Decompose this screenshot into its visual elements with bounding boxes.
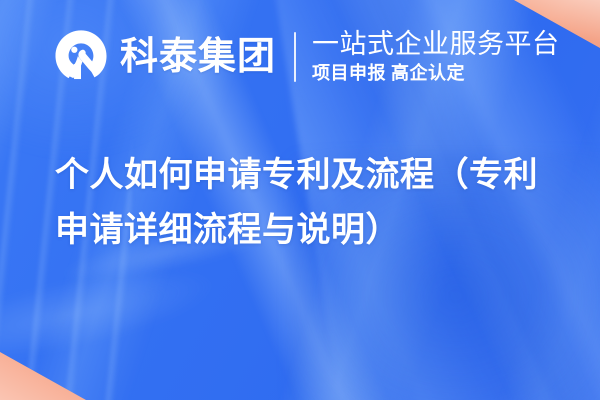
brand-lockup: 科泰集团 一站式企业服务平台 项目申报 高企认定 — [52, 28, 560, 86]
tagline-sub: 项目申报 高企认定 — [312, 62, 560, 85]
tagline-group: 一站式企业服务平台 项目申报 高企认定 — [312, 29, 560, 85]
brand-name: 科泰集团 — [120, 38, 276, 76]
tagline-main: 一站式企业服务平台 — [312, 29, 560, 59]
article-headline: 个人如何申请专利及流程（专利申请详细流程与说明） — [55, 148, 555, 258]
article-cover-banner: 科泰集团 一站式企业服务平台 项目申报 高企认定 个人如何申请专利及流程（专利申… — [0, 0, 600, 400]
brand-divider — [294, 32, 296, 82]
ketai-group-logo-icon — [52, 28, 110, 86]
